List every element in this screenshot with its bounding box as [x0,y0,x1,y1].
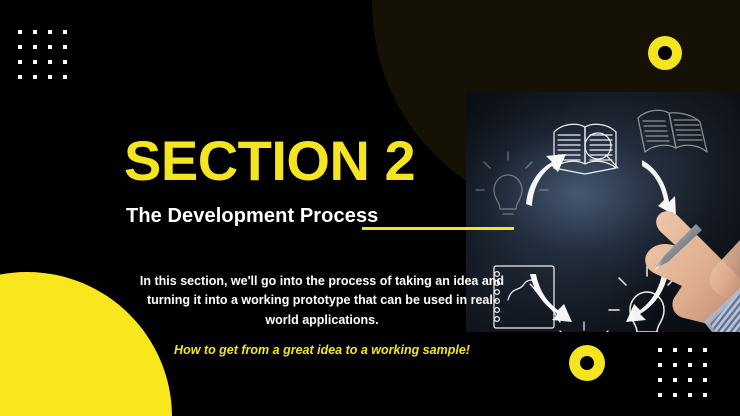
grid-dot [673,363,677,367]
grid-dot [688,393,692,397]
page-title: SECTION 2 [124,133,415,189]
grid-dot [63,60,67,64]
grid-dot [33,45,37,49]
ring-hole [580,356,594,370]
dot-grid-bottom-right [658,348,707,397]
grid-dot [673,378,677,382]
grid-dot [703,348,707,352]
page-subtitle: The Development Process [126,205,378,228]
grid-dot [48,45,52,49]
grid-dot [658,363,662,367]
grid-dot [48,30,52,34]
hand-with-pen [645,211,740,332]
grid-dot [673,393,677,397]
body-paragraph: In this section, we'll go into the proce… [132,272,512,330]
grid-dot [63,45,67,49]
grid-dot [33,30,37,34]
ring-decoration-top-right [648,36,682,70]
grid-dot [33,75,37,79]
grid-dot [703,393,707,397]
grid-dot [18,60,22,64]
grid-dot [18,30,22,34]
grid-dot [48,60,52,64]
grid-dot [18,75,22,79]
ring-decoration-bottom-center [569,345,605,381]
grid-dot [658,378,662,382]
grid-dot [688,363,692,367]
grid-dot [48,75,52,79]
grid-dot [18,45,22,49]
underline-rule [362,227,514,230]
dot-grid-top-left [18,30,67,79]
tagline-text: How to get from a great idea to a workin… [132,342,512,360]
grid-dot [658,348,662,352]
cycle-arrow-icon [526,154,676,322]
grid-dot [63,30,67,34]
grid-dot [703,363,707,367]
grid-dot [33,60,37,64]
grid-dot [688,378,692,382]
grid-dot [673,348,677,352]
section-slide: SECTION 2 The Development Process In thi… [0,0,740,416]
grid-dot [658,393,662,397]
ring-hole [658,46,672,60]
grid-dot [703,378,707,382]
grid-dot [688,348,692,352]
grid-dot [63,75,67,79]
